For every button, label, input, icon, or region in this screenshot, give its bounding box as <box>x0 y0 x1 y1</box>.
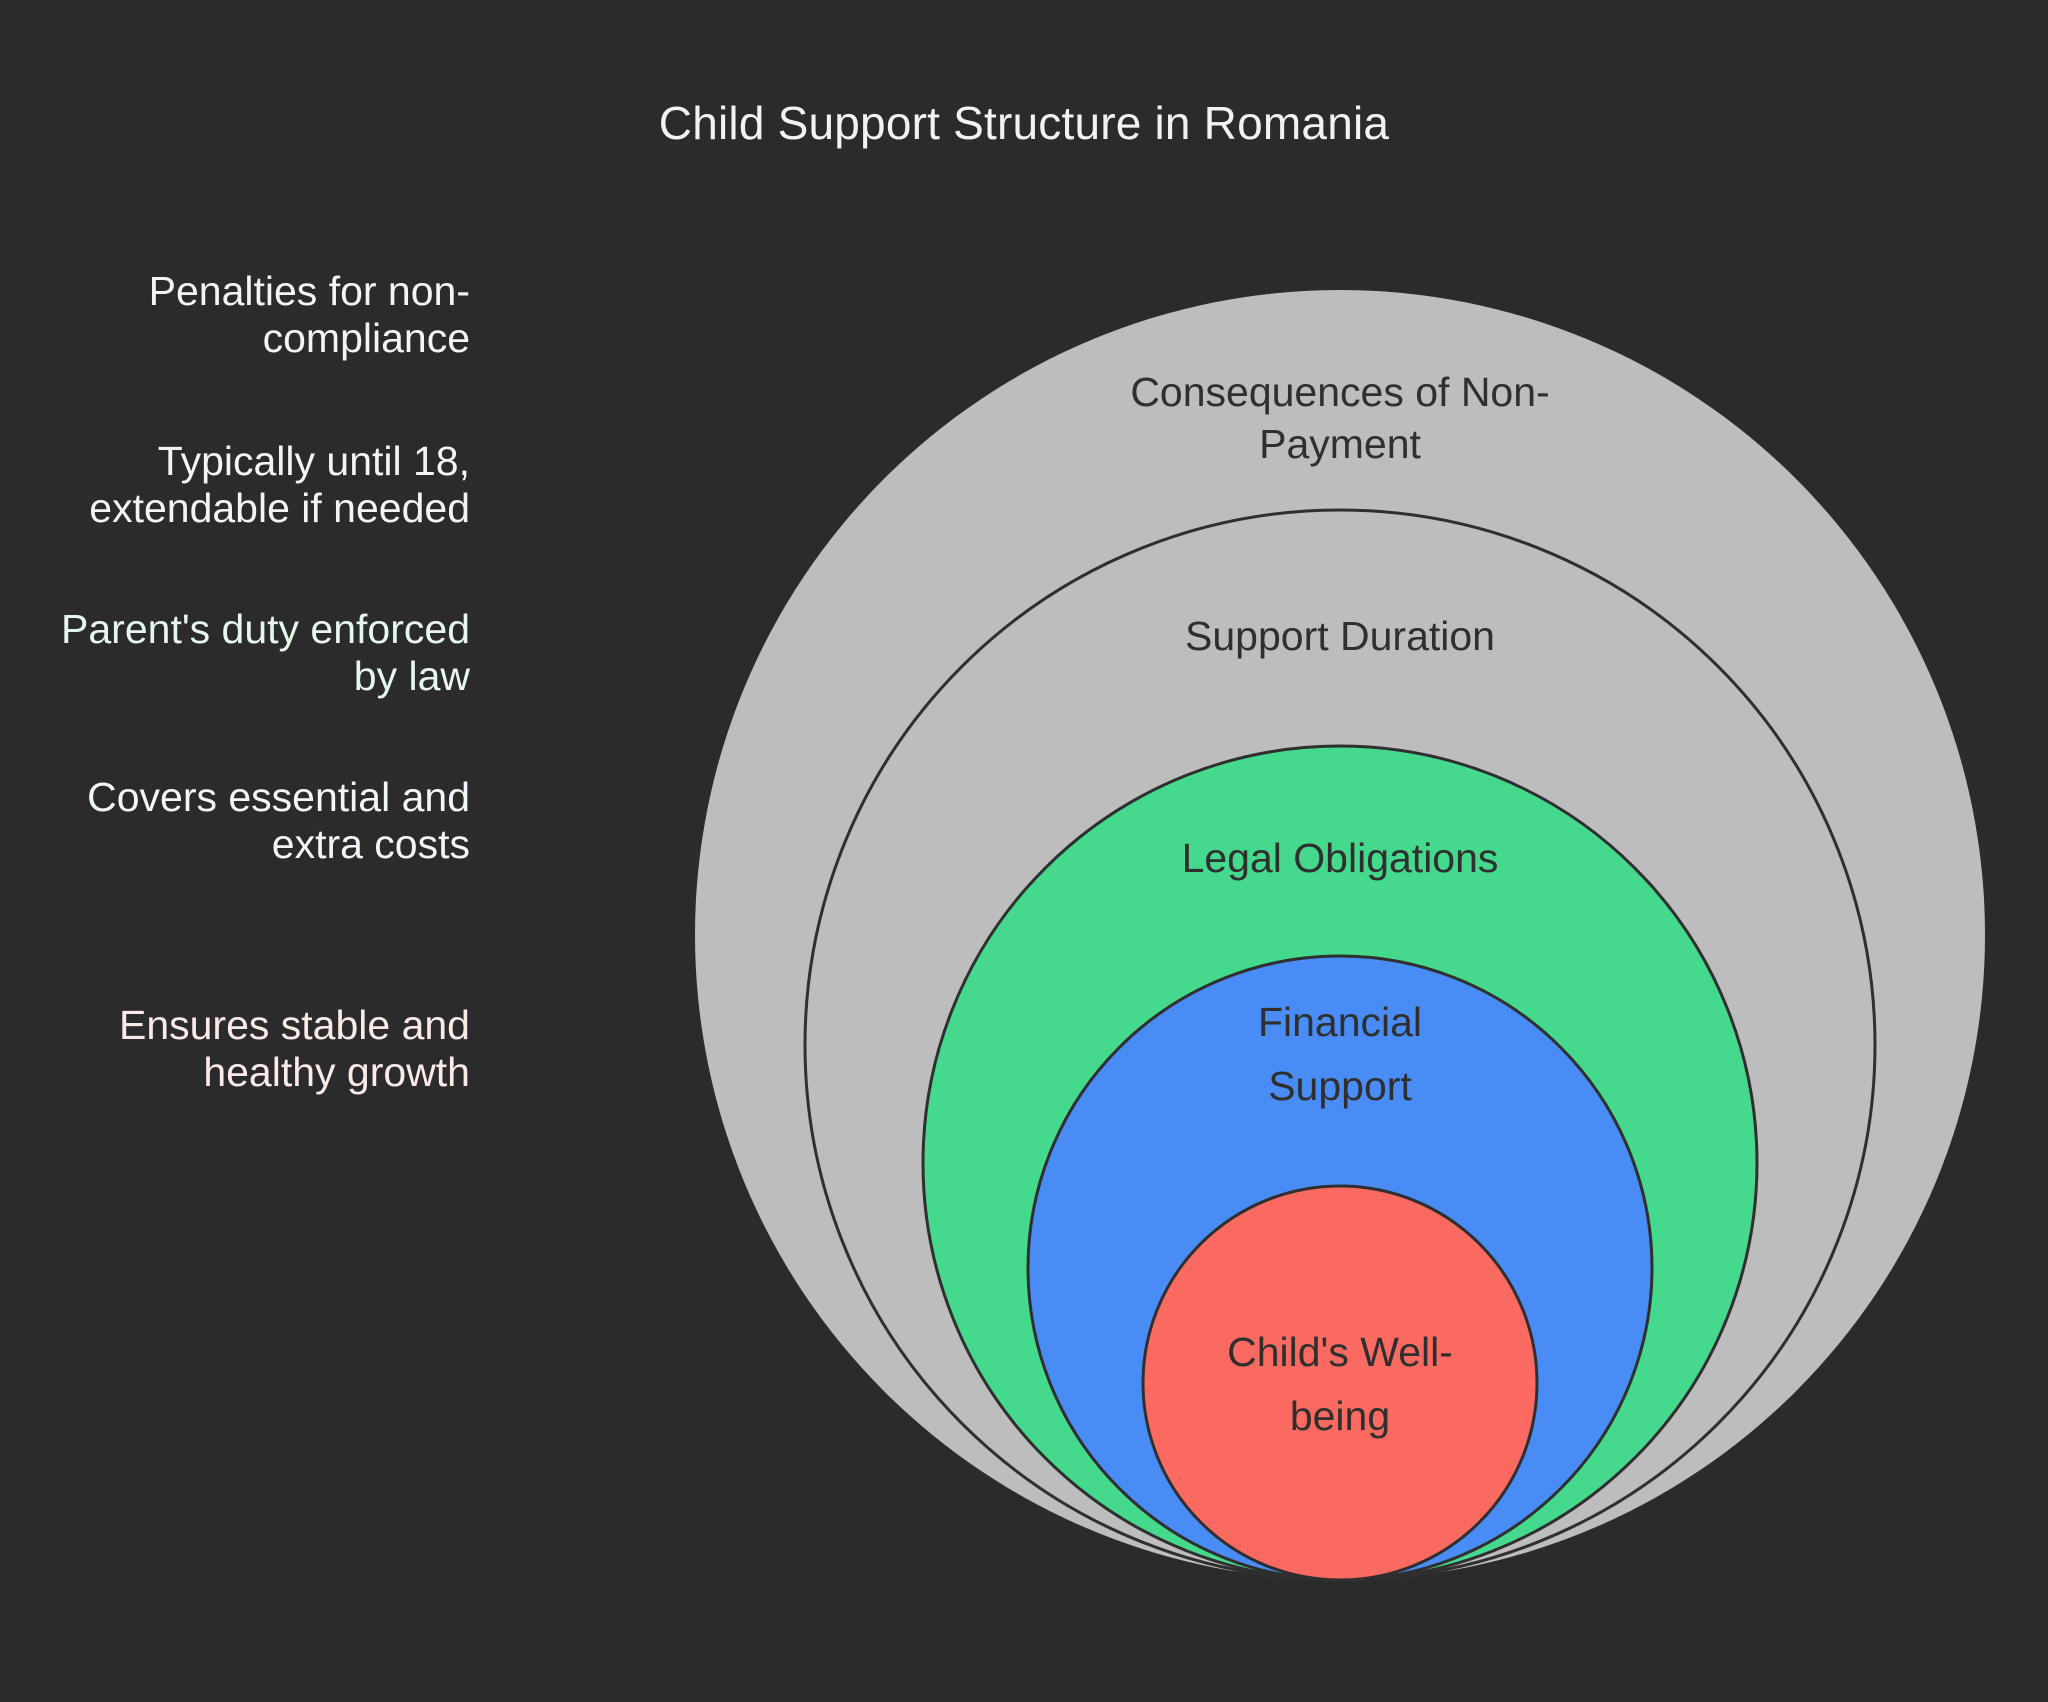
diagram-canvas: Child Support Structure in Romania Penal… <box>0 0 2048 1702</box>
nested-circle-diagram: Consequences of Non-Payment Support Dura… <box>0 0 2048 1702</box>
ring-childs-wellbeing[interactable]: Child's Well-being <box>1143 1186 1537 1580</box>
ring-childs-wellbeing-shape[interactable] <box>1143 1186 1537 1580</box>
ring-support-duration-label: Support Duration <box>1185 613 1495 659</box>
ring-legal-obligations-label: Legal Obligations <box>1182 835 1499 881</box>
